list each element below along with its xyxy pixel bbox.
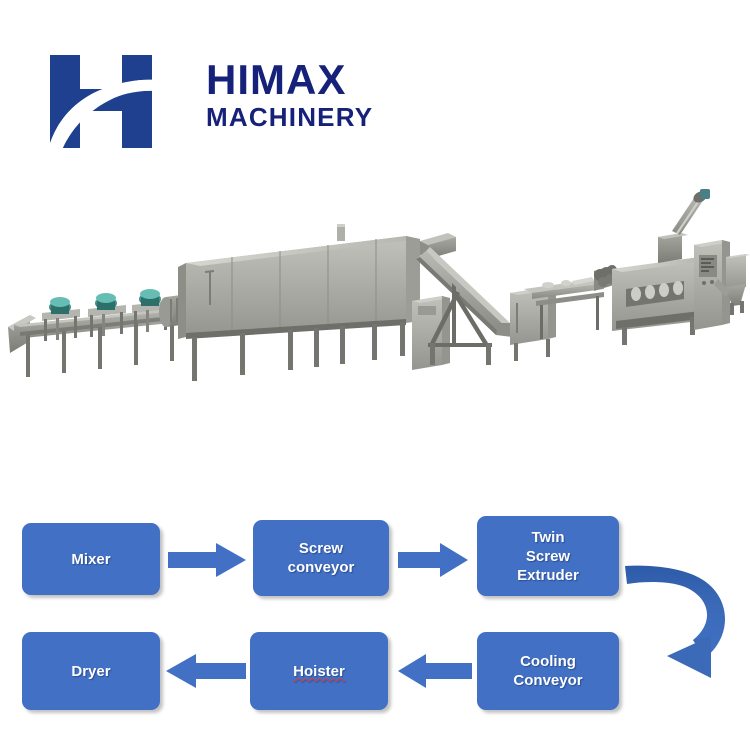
himax-h-swoosh-icon [48,53,156,150]
flow-node-screw-conveyor[interactable]: Screw conveyor [253,520,389,596]
flow-arrow-mixer-to-screw-conveyor [168,542,248,578]
flow-node-dryer[interactable]: Dryer [22,632,160,710]
flow-arrow-hoister-to-dryer [164,653,246,689]
brand-name-secondary: MACHINERY [206,102,396,132]
brand-wordmark: HIMAX MACHINERY [206,58,396,132]
flow-node-cooling-conveyor[interactable]: Cooling Conveyor [477,632,619,710]
process-flowchart: Mixer Screw conveyor Twin Screw Extruder… [0,490,750,750]
flow-node-label: Screw conveyor [288,539,355,577]
brand-logo: HIMAX MACHINERY [48,53,348,148]
flow-node-label: Dryer [71,662,110,681]
flow-node-label: Hoister [293,662,345,681]
flow-node-mixer[interactable]: Mixer [22,523,160,595]
flow-arrow-extruder-to-cooling-conveyor-curve [615,518,750,688]
flow-node-hoister[interactable]: Hoister [250,632,388,710]
flow-arrow-cooling-conveyor-to-hoister [396,653,472,689]
brand-name-primary: HIMAX [206,58,396,102]
flow-arrow-screw-conveyor-to-extruder [398,542,470,578]
flow-node-label: Cooling Conveyor [513,652,582,690]
flow-node-twin-screw-extruder[interactable]: Twin Screw Extruder [477,516,619,596]
flow-node-label: Mixer [71,550,110,569]
production-line-photo [0,175,750,400]
flow-node-label: Twin Screw Extruder [517,528,579,585]
product-page: HIMAX MACHINERY [0,0,750,750]
